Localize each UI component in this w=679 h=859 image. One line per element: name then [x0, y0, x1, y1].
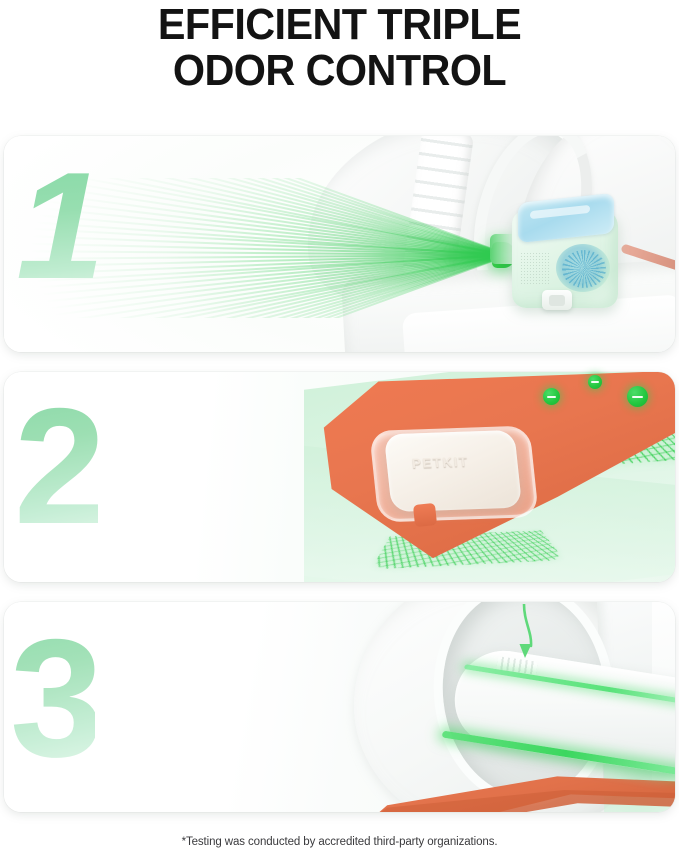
cube-air-grille	[520, 252, 550, 286]
feature-card-2: PETKIT 2 98%* ammonia neutralization for…	[4, 372, 675, 582]
negative-ion-badge-icon	[627, 386, 648, 407]
feature-2-numeral: 2	[14, 384, 98, 549]
brand-logo-petkit: PETKIT	[411, 454, 469, 471]
cartridge-pull-tab	[413, 503, 437, 527]
fragrance-cylinder-device	[512, 194, 624, 312]
feature-1-illustration	[4, 136, 675, 352]
feature-2-illustration: PETKIT	[4, 372, 675, 582]
feature-1-numeral: 1	[16, 150, 98, 302]
cube-fan-blades	[562, 250, 606, 288]
feature-card-1: 1 45 days cylinder deodorization with sm…	[4, 136, 675, 352]
downward-arrow-icon	[512, 604, 546, 662]
negative-ion-badge-icon	[588, 375, 602, 389]
deodorizer-cartridge	[384, 430, 522, 512]
caption-bold-text: 45 days	[70, 349, 137, 352]
feature-1-caption: 45 days cylinder deodorization with smar…	[70, 347, 270, 352]
footnote-disclaimer: *Testing was conducted by accredited thi…	[0, 836, 679, 848]
cube-release-button-inset	[549, 295, 565, 306]
page-title-line-1: EFFICIENT TRIPLE	[20, 2, 658, 48]
page-title: EFFICIENT TRIPLE ODOR CONTROL	[20, 2, 658, 94]
feature-card-3: 3 Odor-trapping sealed waste bin	[4, 602, 675, 812]
negative-ion-badge-icon	[543, 388, 560, 405]
caption-regular-text: cylinder	[137, 349, 205, 352]
feature-3-numeral: 3	[10, 614, 95, 782]
caption-line: 45 days cylinder	[70, 347, 270, 352]
page-title-line-2: ODOR CONTROL	[20, 48, 658, 94]
feature-3-illustration	[4, 602, 675, 812]
product-feature-infographic: EFFICIENT TRIPLE ODOR CONTROL	[0, 0, 679, 859]
